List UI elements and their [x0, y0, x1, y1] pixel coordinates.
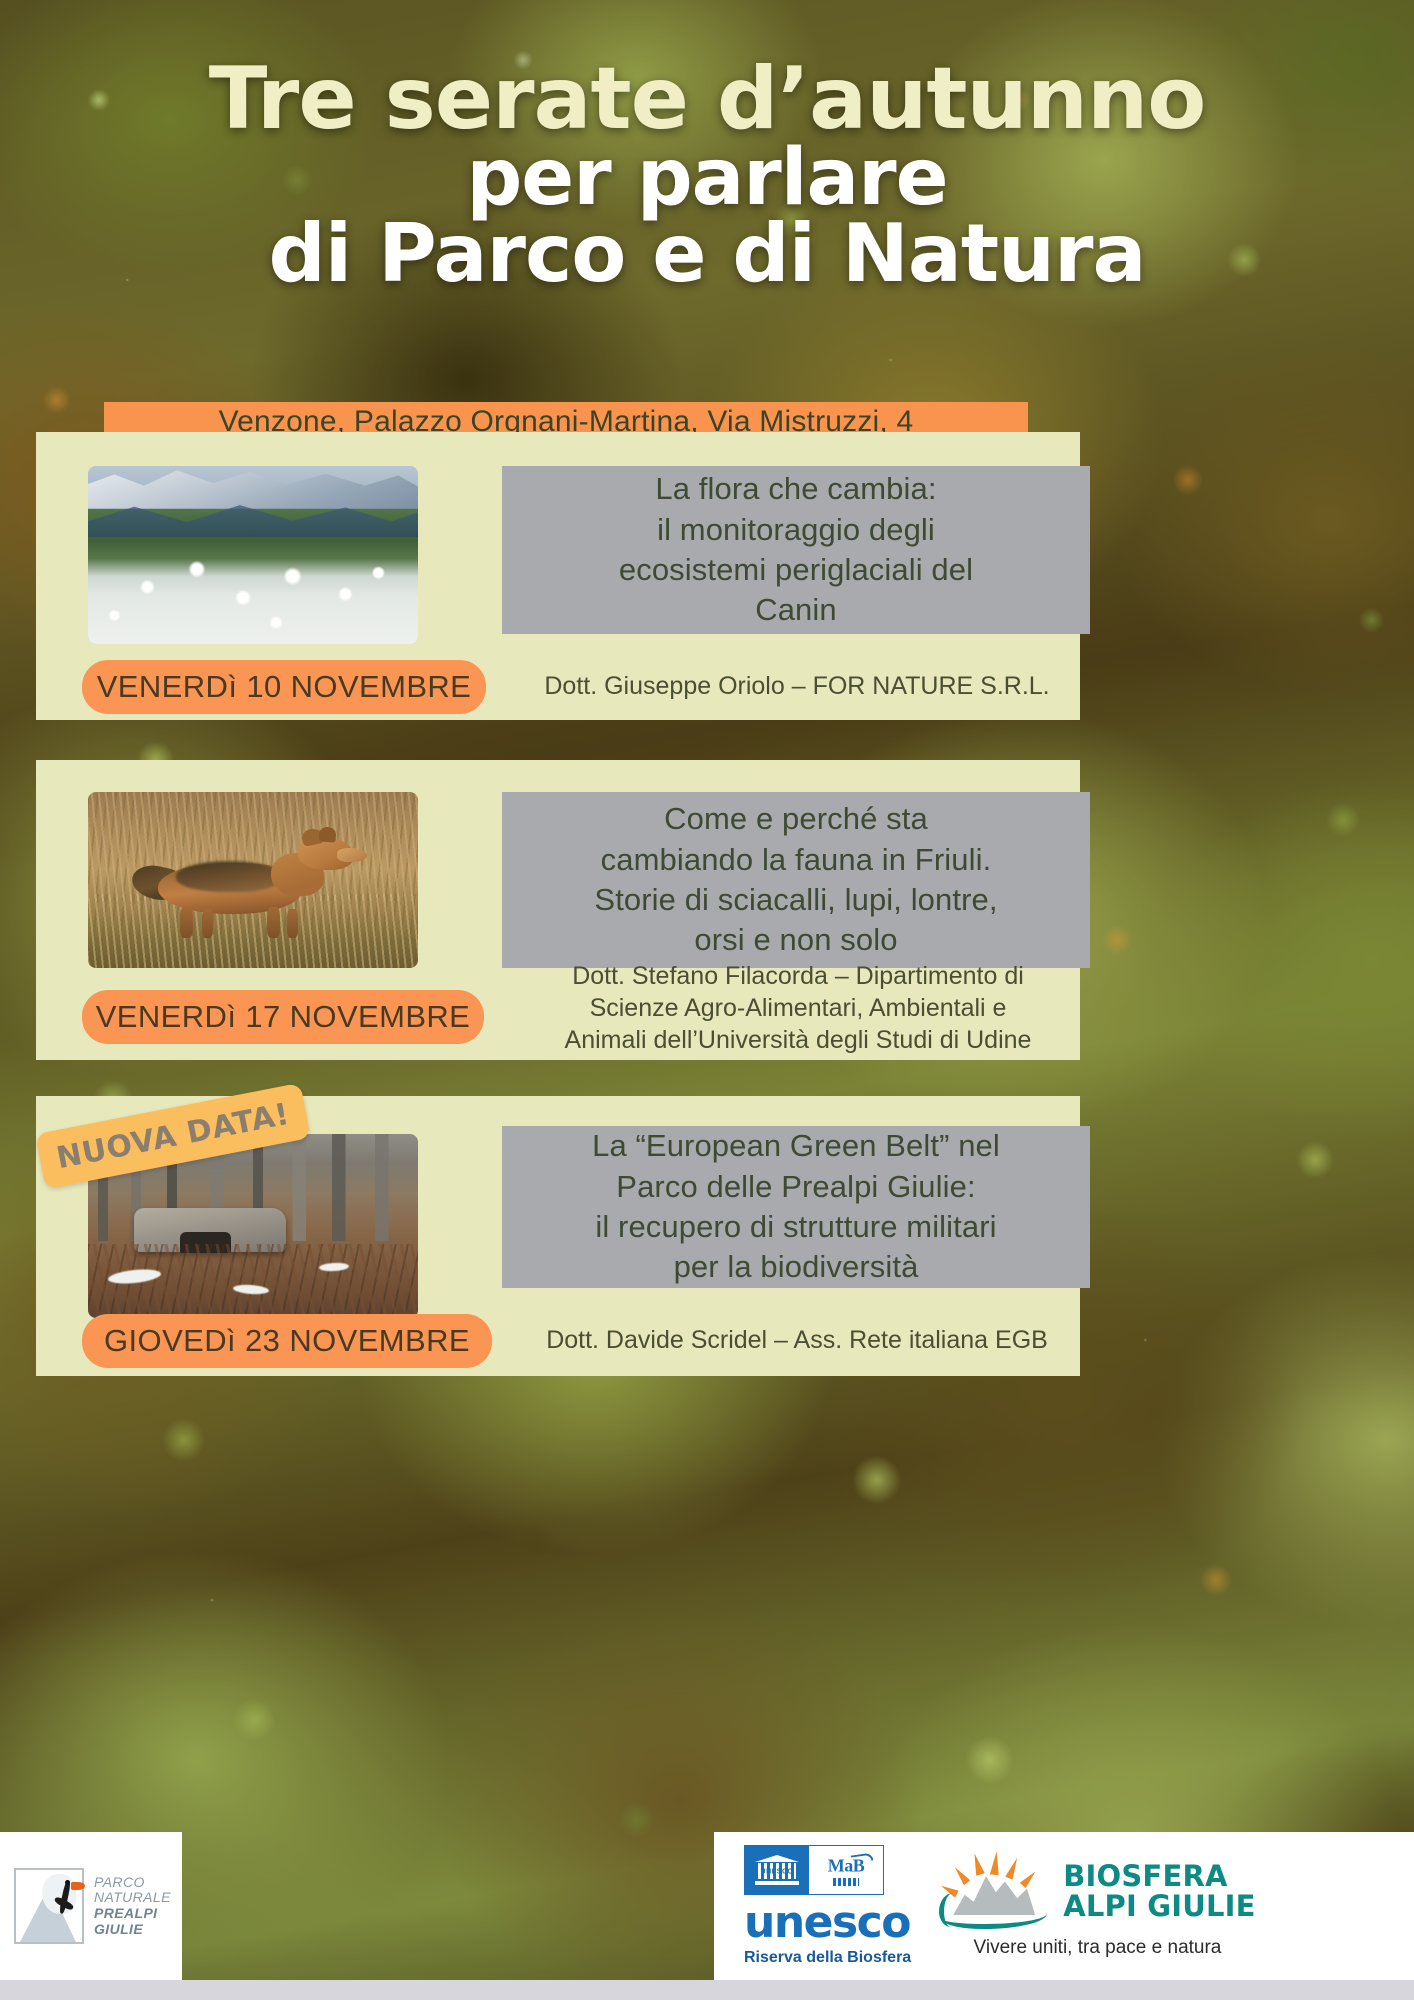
ptarmigan-bird-icon	[14, 1868, 84, 1944]
event-title: Come e perché sta cambiando la fauna in …	[594, 799, 997, 960]
title-line-2: per parlare	[0, 143, 1414, 215]
unesco-logo: UNESCO MaB unesco Riserva della Biosfera	[744, 1845, 911, 1967]
event-card: La flora che cambia: il monitoraggio deg…	[36, 432, 1080, 720]
event-speaker: Dott. Davide Scridel – Ass. Rete italian…	[502, 1324, 1092, 1356]
event-title: La flora che cambia: il monitoraggio deg…	[619, 469, 973, 630]
event-thumbnail	[88, 792, 418, 968]
biosfera-line-2: ALPI GIULIE	[1063, 1892, 1255, 1922]
jackal-illustration	[141, 831, 359, 940]
parco-prealpi-giulie-logo: PARCO NATURALE PREALPI GIULIE	[0, 1832, 182, 1980]
event-speaker: Dott. Stefano Filacorda – Dipartimento d…	[502, 960, 1094, 1056]
parco-logo-line-3: PREALPI	[94, 1906, 171, 1922]
event-title-block: La “European Green Belt” nel Parco delle…	[502, 1126, 1090, 1288]
parco-logo-line-2: NATURALE	[94, 1890, 171, 1906]
event-thumbnail	[88, 466, 418, 644]
biosfera-line-1: BIOSFERA	[1063, 1862, 1255, 1892]
title-line-1: Tre serate d’autunno	[0, 60, 1414, 139]
title-line-3: di Parco e di Natura	[0, 217, 1414, 291]
unesco-wordmark: unesco	[744, 1901, 910, 1945]
event-date-label: VENERDì 10 NOVEMBRE	[97, 669, 472, 705]
footer-logo-group: UNESCO MaB unesco Riserva della Biosfera	[714, 1832, 1414, 1980]
unesco-mab-mark-icon: UNESCO MaB	[744, 1845, 884, 1895]
event-date-label: VENERDì 17 NOVEMBRE	[96, 999, 471, 1035]
event-speaker: Dott. Giuseppe Oriolo – FOR NATURE S.R.L…	[502, 670, 1092, 702]
biosfera-alpi-giulie-logo: BIOSFERA ALPI GIULIE Vivere uniti, tra p…	[939, 1853, 1255, 1959]
event-card: Come e perché sta cambiando la fauna in …	[36, 760, 1080, 1060]
mab-bars-icon	[833, 1878, 859, 1886]
event-poster: Tre serate d’autunno per parlare di Parc…	[0, 0, 1414, 2000]
event-title-block: La flora che cambia: il monitoraggio deg…	[502, 466, 1090, 634]
parco-logo-line-1: PARCO	[94, 1875, 171, 1891]
parco-logo-line-4: GIULIE	[94, 1922, 171, 1938]
event-date-badge: VENERDì 10 NOVEMBRE	[82, 660, 486, 714]
poster-title: Tre serate d’autunno per parlare di Parc…	[0, 60, 1414, 290]
biosfera-tagline: Vivere uniti, tra pace e natura	[974, 1937, 1222, 1959]
unesco-subtitle: Riserva della Biosfera	[744, 1949, 911, 1967]
event-title: La “European Green Belt” nel Parco delle…	[592, 1126, 1000, 1287]
unesco-mark-word: UNESCO	[761, 1869, 794, 1876]
event-title-block: Come e perché sta cambiando la fauna in …	[502, 792, 1090, 968]
event-date-badge: VENERDì 17 NOVEMBRE	[82, 990, 484, 1044]
event-date-badge: GIOVEDì 23 NOVEMBRE	[82, 1314, 492, 1368]
mountain-sun-icon	[939, 1853, 1051, 1931]
mab-swoosh-icon	[851, 1853, 874, 1864]
footer-strip	[0, 1980, 1414, 2000]
event-date-label: GIOVEDì 23 NOVEMBRE	[104, 1323, 470, 1359]
